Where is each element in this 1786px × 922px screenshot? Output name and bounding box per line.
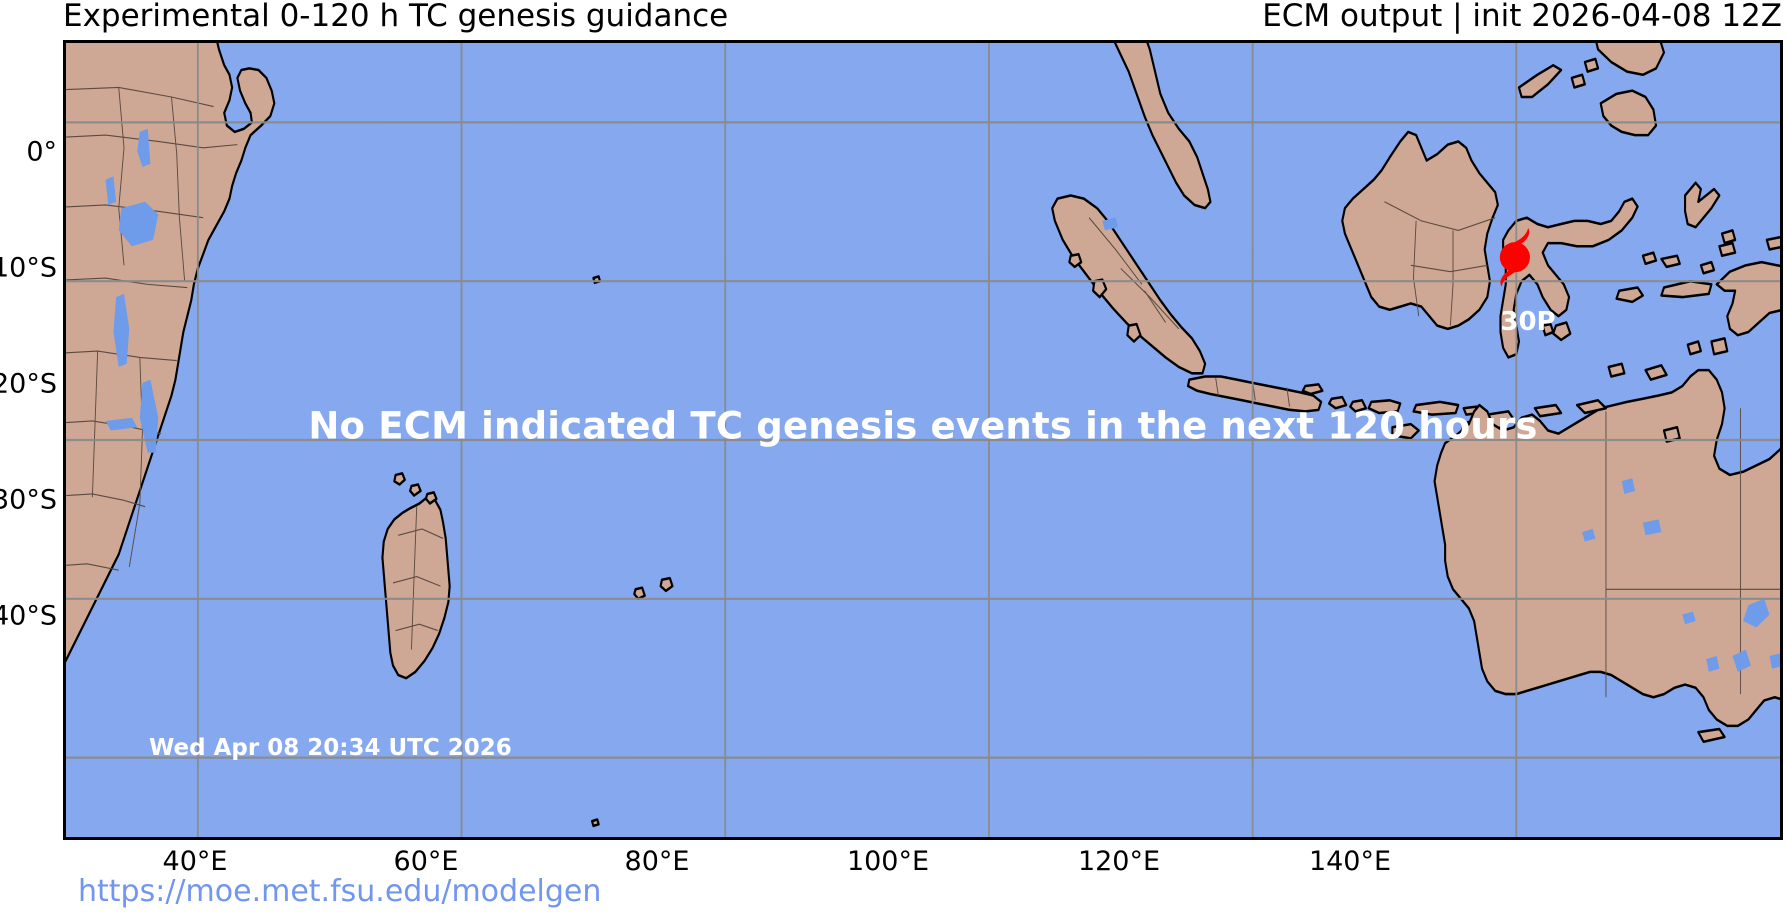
land-comoros-2 — [410, 484, 421, 495]
land-australia — [1435, 370, 1780, 735]
ytick-0: 0° — [26, 137, 57, 168]
land-palawan — [1519, 65, 1561, 97]
land-kerguelen-dot — [592, 820, 599, 826]
tropical-cyclone-icon — [1487, 228, 1541, 290]
land-moluccas-1 — [1722, 230, 1735, 243]
ytick-40S: 40°S — [0, 601, 57, 632]
land-bali — [1329, 397, 1346, 408]
xtick-100E: 100°E — [847, 846, 929, 877]
ytick-20S: 20°S — [0, 369, 57, 400]
land-moluccas-2 — [1643, 253, 1656, 264]
land-flores — [1413, 402, 1458, 415]
land-reunion — [634, 588, 645, 599]
gridlines — [66, 43, 1780, 837]
land-sumatra — [1052, 195, 1205, 373]
land-moluccas-3 — [1701, 262, 1714, 273]
xtick-80E: 80°E — [625, 846, 690, 877]
land-new-guinea-isle-1 — [1719, 243, 1735, 256]
header: Experimental 0-120 h TC genesis guidance… — [0, 0, 1786, 38]
land-philippines-isle-1 — [1572, 75, 1585, 88]
model-init-label: ECM output | init 2026-04-08 12Z — [1262, 0, 1782, 34]
tc-genesis-guidance-page: Experimental 0-120 h TC genesis guidance… — [0, 0, 1786, 922]
land-mauritius — [661, 578, 673, 591]
map-layers: 30P No ECM indicated TC genesis events i… — [66, 43, 1780, 837]
landmasses — [66, 43, 1780, 826]
land-obi — [1661, 256, 1679, 267]
land-halmahera — [1685, 183, 1719, 227]
land-madura — [1303, 384, 1323, 394]
ytick-30S: 30°S — [0, 485, 57, 516]
land-tanimbar — [1646, 365, 1667, 379]
land-philippines-isle-2 — [1585, 59, 1598, 72]
land-aru — [1711, 338, 1727, 354]
land-seram — [1661, 281, 1711, 297]
page-title: Experimental 0-120 h TC genesis guidance — [63, 0, 728, 34]
land-lombok — [1350, 400, 1366, 411]
land-buru — [1617, 288, 1643, 302]
ytick-10S: 10°S — [0, 253, 57, 284]
land-mindanao — [1601, 91, 1656, 135]
storm-marker-30P[interactable] — [1487, 228, 1541, 290]
land-sumbawa — [1369, 400, 1401, 413]
xtick-60E: 60°E — [394, 846, 459, 877]
land-kangaroo-island — [1698, 729, 1724, 742]
land-malay-peninsula — [1108, 43, 1211, 208]
land-new-guinea-isle-2 — [1767, 237, 1780, 250]
land-comoros-1 — [394, 473, 405, 484]
source-url-link[interactable]: https://moe.met.fsu.edu/modelgen — [78, 874, 601, 909]
xtick-140E: 140°E — [1309, 846, 1391, 877]
storm-label-30P: 30P — [1500, 307, 1555, 337]
land-philippines-visayas — [1593, 43, 1664, 75]
land-buton — [1553, 322, 1570, 339]
map-geography — [66, 43, 1780, 837]
land-sumba — [1392, 424, 1418, 438]
map-canvas[interactable]: 30P No ECM indicated TC genesis events i… — [63, 40, 1783, 840]
xtick-40E: 40°E — [163, 846, 228, 877]
land-babar — [1609, 364, 1625, 377]
land-kei — [1688, 342, 1701, 355]
land-mentawai — [1127, 324, 1140, 341]
xtick-120E: 120°E — [1078, 846, 1160, 877]
generation-timestamp: Wed Apr 08 20:34 UTC 2026 — [149, 735, 512, 761]
land-borneo — [1342, 132, 1498, 329]
land-wetar — [1535, 405, 1561, 416]
